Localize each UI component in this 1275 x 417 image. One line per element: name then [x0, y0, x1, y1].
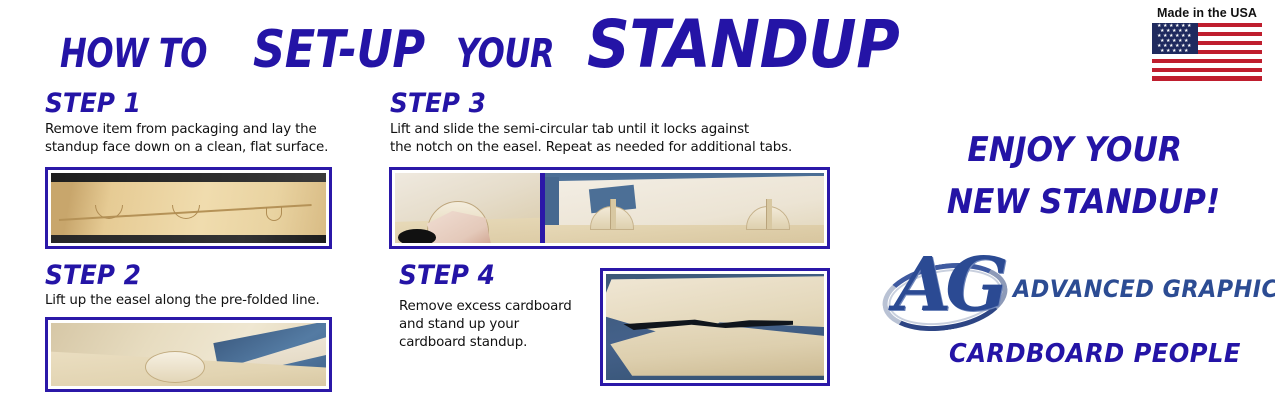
step-1-text: Remove item from packaging and lay the s… [45, 121, 375, 157]
title-part-set-up: SET-UP [253, 24, 425, 76]
advanced-graphics-logo: AG [878, 250, 1013, 338]
step-2-heading: STEP 2 [45, 262, 141, 289]
title-part-how-to: HOW TO [60, 34, 207, 74]
step-3-photo [389, 167, 830, 249]
step-4-photo [600, 268, 830, 386]
step-1-photo [45, 167, 332, 249]
step-2-text: Lift up the easel along the pre-folded l… [45, 292, 375, 310]
flag-stars: ★★★★★★ ★★★★★ ★★★★★★ ★★★★★ ★★★★★★ ★★★★★ ★… [1152, 23, 1198, 54]
step-3-text: Lift and slide the semi-circular tab unt… [390, 121, 840, 157]
logo-monogram: AG [894, 248, 1003, 322]
step-3-photo-left [395, 173, 540, 243]
promo-line-1: ENJOY YOUR [967, 133, 1182, 167]
step-4-text: Remove excess cardboard and stand up you… [399, 298, 609, 352]
instruction-sheet: HOW TO SET-UP YOUR STANDUP Made in the U… [0, 0, 1275, 417]
us-flag-icon: ★★★★★★ ★★★★★ ★★★★★★ ★★★★★ ★★★★★★ ★★★★★ ★… [1152, 23, 1262, 81]
page-title: HOW TO SET-UP YOUR STANDUP [60, 12, 934, 82]
brand-name: ADVANCED GRAPHICS [1013, 275, 1275, 303]
title-part-standup: STANDUP [587, 12, 899, 78]
made-in-usa-label: Made in the USA [1148, 6, 1266, 20]
brand-tagline: CARDBOARD PEOPLE [949, 339, 1241, 369]
made-in-usa-badge: Made in the USA ★★★★★★ ★★★★★ ★★★★★★ ★★★★… [1148, 6, 1266, 81]
title-part-your: YOUR [456, 34, 554, 74]
promo-line-2: NEW STANDUP! [947, 185, 1220, 219]
step-3-photo-right [545, 173, 824, 243]
step-4-heading: STEP 4 [399, 262, 495, 289]
step-2-photo [45, 317, 332, 392]
step-3-heading: STEP 3 [390, 90, 486, 117]
step-1-heading: STEP 1 [45, 90, 141, 117]
